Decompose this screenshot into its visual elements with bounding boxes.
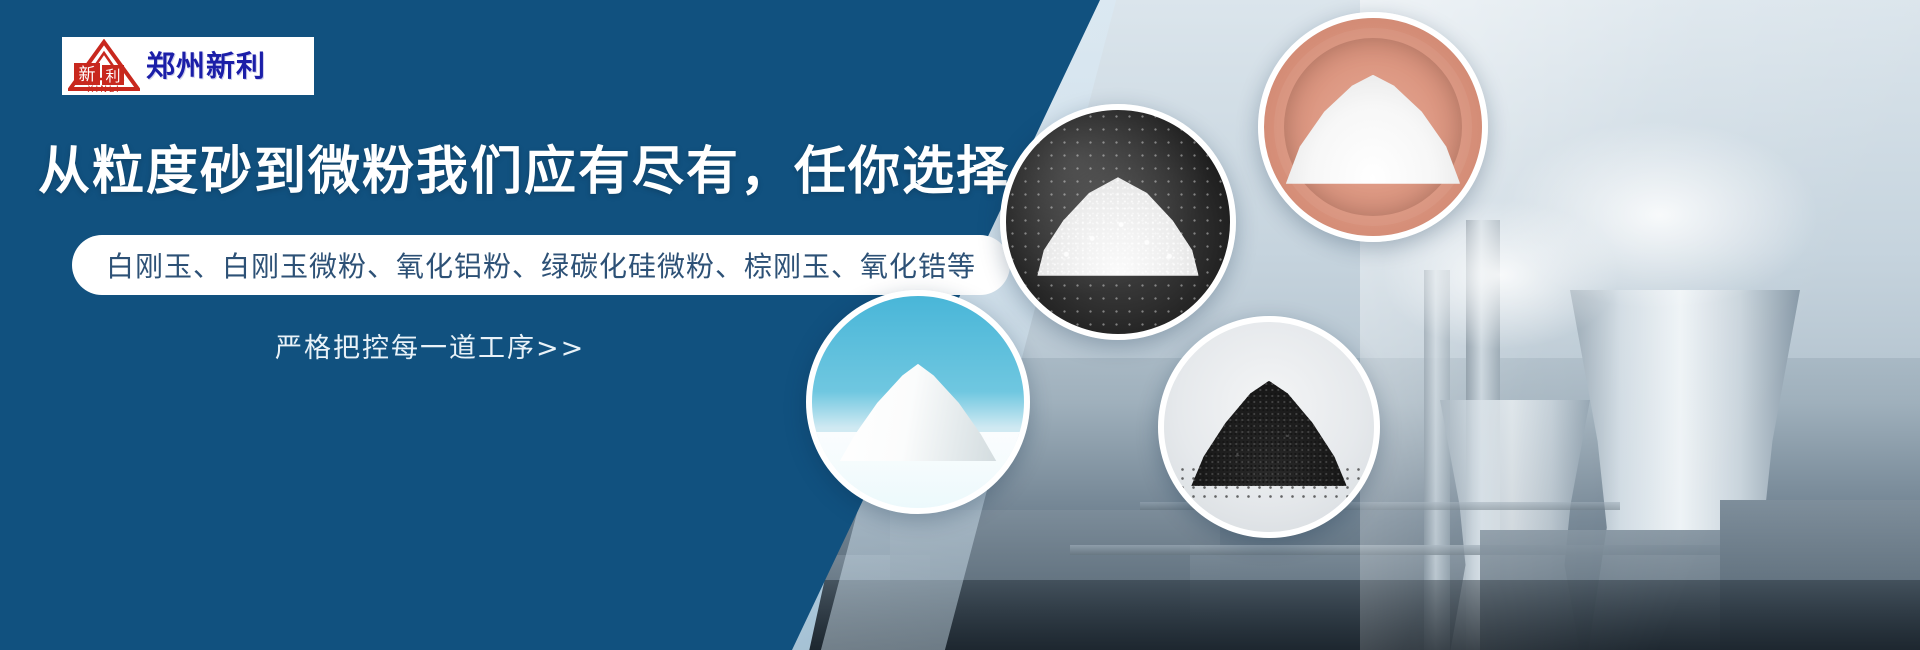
company-logo[interactable]: 新 利 XINLI 郑州新利 bbox=[62, 37, 314, 95]
svg-text:利: 利 bbox=[105, 67, 120, 85]
scattered-grains bbox=[1006, 110, 1230, 334]
powder-cone bbox=[840, 364, 997, 462]
product-list-text: 白刚玉、白刚玉微粉、氧化铝粉、绿碳化硅微粉、棕刚玉、氧化锆等 bbox=[106, 245, 976, 285]
product-list-pill: 白刚玉、白刚玉微粉、氧化铝粉、绿碳化硅微粉、棕刚玉、氧化锆等 bbox=[72, 235, 1010, 295]
product-photo-white-grit bbox=[1000, 104, 1236, 340]
promo-banner: 新 利 XINLI 郑州新利 从粒度砂到微粉我们应有尽有，任你选择 白刚玉、白刚… bbox=[0, 0, 1920, 650]
company-name: 郑州新利 bbox=[146, 52, 266, 81]
xinli-triangle-icon: 新 利 XINLI bbox=[68, 39, 140, 93]
steam-plume bbox=[1500, 120, 1820, 310]
product-photo-powder-cone bbox=[806, 290, 1030, 514]
scattered-black-grains bbox=[1177, 465, 1362, 499]
svg-text:XINLI: XINLI bbox=[87, 85, 120, 93]
product-photo-white-powder-dish bbox=[1258, 12, 1488, 242]
svg-text:新: 新 bbox=[79, 65, 96, 85]
product-photo-black-grit bbox=[1158, 316, 1380, 538]
headline: 从粒度砂到微粉我们应有尽有，任你选择 bbox=[38, 143, 1010, 203]
process-caption-link[interactable]: 严格把控每一道工序>> bbox=[275, 326, 585, 365]
